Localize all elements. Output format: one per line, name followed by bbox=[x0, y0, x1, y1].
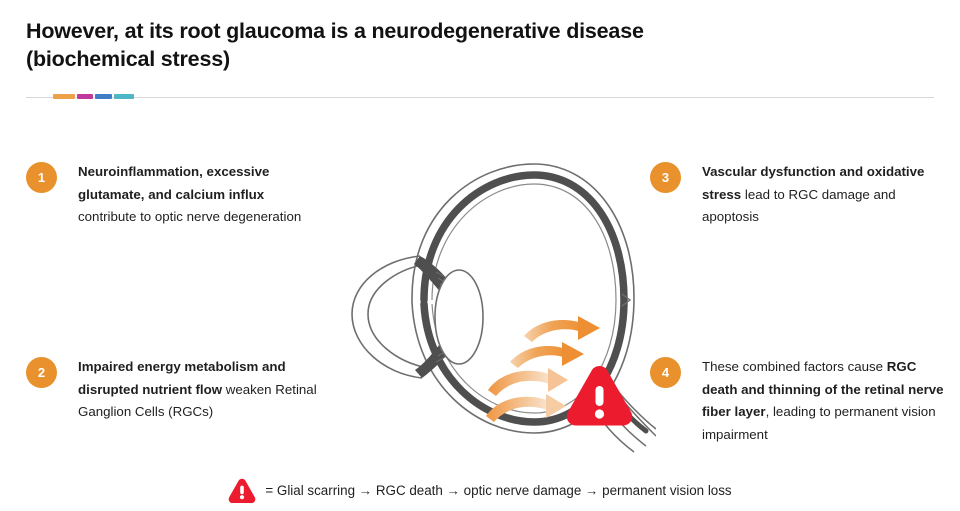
damage-arrow-3 bbox=[488, 368, 568, 396]
eye-cross-section-diagram bbox=[316, 148, 656, 468]
accent-segment-4 bbox=[114, 94, 134, 99]
bullet-body-2: 2 Impaired energy metabolism and disrupt… bbox=[26, 356, 326, 424]
bullet-text-2: Impaired energy metabolism and disrupted… bbox=[78, 356, 326, 424]
page-title: However, at its root glaucoma is a neuro… bbox=[0, 0, 960, 73]
bullet-badge-1: 1 bbox=[26, 162, 57, 193]
bullet-text-4: These combined factors cause RGC death a… bbox=[702, 356, 950, 446]
lens bbox=[435, 270, 483, 364]
header-divider bbox=[26, 94, 934, 100]
cornea bbox=[352, 256, 428, 378]
page-header: However, at its root glaucoma is a neuro… bbox=[0, 0, 960, 73]
bullet-body-3: 3 Vascular dysfunction and oxidative str… bbox=[650, 161, 950, 229]
bullet-item-4: 4 These combined factors cause RGC death… bbox=[650, 356, 950, 446]
warning-triangle-icon bbox=[228, 478, 256, 503]
bullet-item-3: 3 Vascular dysfunction and oxidative str… bbox=[650, 161, 950, 229]
bullet-text-4-lead: These combined factors cause bbox=[702, 359, 887, 374]
bullet-body-1: 1 Neuroinflammation, excessive glutamate… bbox=[26, 161, 326, 229]
accent-segment-2 bbox=[77, 94, 93, 99]
bullet-text-1: Neuroinflammation, excessive glutamate, … bbox=[78, 161, 326, 229]
legend-row: = Glial scarring → RGC death → optic ner… bbox=[0, 478, 960, 503]
bullet-text-3: Vascular dysfunction and oxidative stres… bbox=[702, 161, 950, 229]
bullet-body-4: 4 These combined factors cause RGC death… bbox=[650, 356, 950, 446]
divider-line bbox=[26, 97, 934, 98]
bullet-item-1: 1 Neuroinflammation, excessive glutamate… bbox=[26, 161, 326, 229]
accent-segment-3 bbox=[95, 94, 112, 99]
damage-arrow-2 bbox=[510, 342, 584, 368]
damage-arrow-1 bbox=[524, 316, 600, 342]
bullet-item-2: 2 Impaired energy metabolism and disrupt… bbox=[26, 356, 326, 424]
page-title-line-2: (biochemical stress) bbox=[26, 47, 230, 71]
bullet-text-1-rest: contribute to optic nerve degeneration bbox=[78, 209, 301, 224]
page-title-line-1: However, at its root glaucoma is a neuro… bbox=[26, 19, 644, 43]
bullet-text-1-bold: Neuroinflammation, excessive glutamate, … bbox=[78, 164, 269, 202]
accent-segment-1 bbox=[53, 94, 75, 99]
legend-text: = Glial scarring → RGC death → optic ner… bbox=[265, 481, 731, 501]
bullet-badge-2: 2 bbox=[26, 357, 57, 388]
